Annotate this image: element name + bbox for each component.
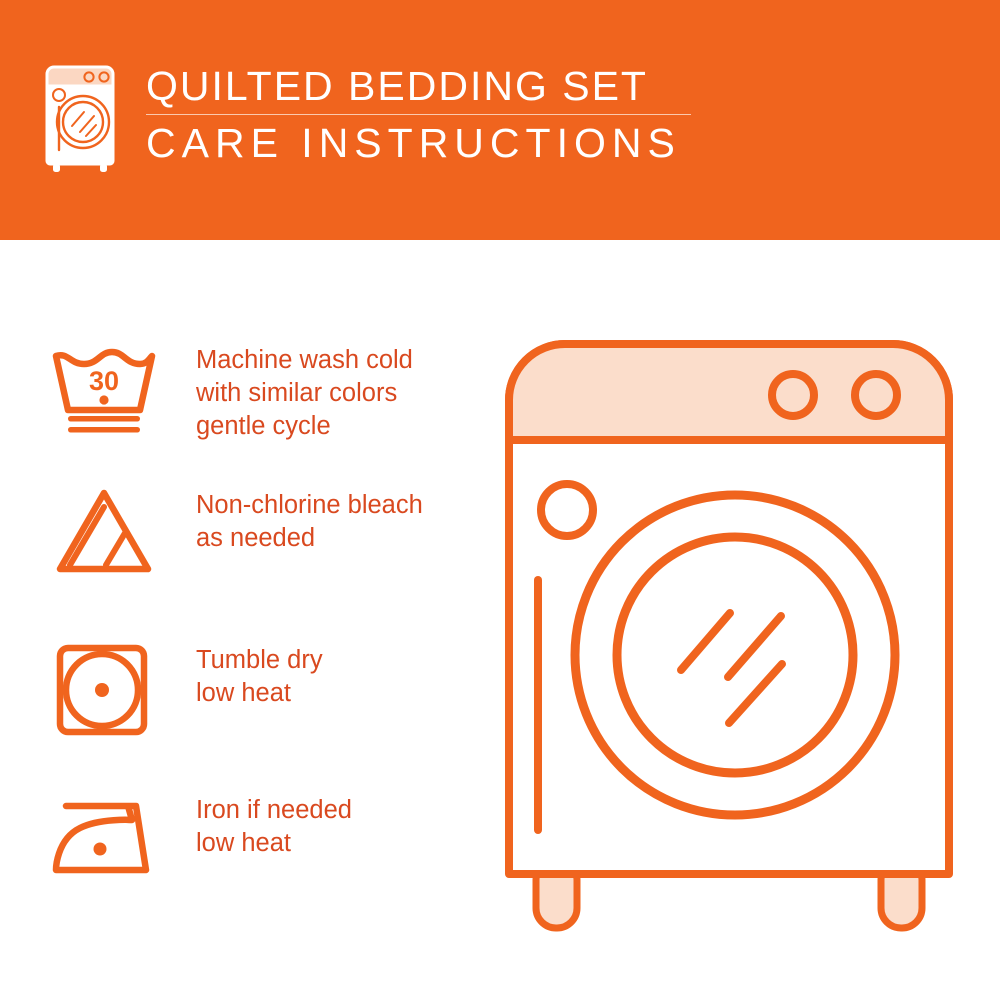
knob-left [772, 374, 814, 416]
header-title-block: QUILTED BEDDING SET CARE INSTRUCTIONS [146, 62, 691, 164]
knob-right [855, 374, 897, 416]
care-item-iron: Iron if needed low heat [48, 790, 488, 882]
care-instruction-list: 30 Machine wash cold with similar colors… [0, 240, 500, 1000]
care-item-wash: 30 Machine wash cold with similar colors… [48, 340, 488, 443]
care-item-bleach: Non-chlorine bleach as needed [48, 485, 488, 577]
care-item-tumble-dry: Tumble dry low heat [48, 640, 488, 740]
care-item-bleach-text: Non-chlorine bleach as needed [196, 485, 423, 555]
wash-temperature-label: 30 [89, 366, 119, 396]
care-item-iron-text: Iron if needed low heat [196, 790, 352, 860]
care-item-tumble-dry-text: Tumble dry low heat [196, 640, 323, 710]
tumble-dry-icon [48, 640, 166, 740]
page-title: QUILTED BEDDING SET [146, 66, 691, 114]
care-item-wash-text: Machine wash cold with similar colors ge… [196, 340, 413, 443]
bleach-triangle-icon [48, 485, 166, 577]
washing-machine-illustration [495, 330, 975, 950]
page-subtitle: CARE INSTRUCTIONS [146, 123, 691, 164]
washing-machine-icon [42, 62, 124, 174]
iron-icon [48, 790, 166, 882]
header-banner: QUILTED BEDDING SET CARE INSTRUCTIONS [0, 0, 1000, 240]
header-content: QUILTED BEDDING SET CARE INSTRUCTIONS [42, 62, 691, 174]
title-divider [146, 114, 691, 115]
wash-tub-icon: 30 [48, 340, 166, 440]
